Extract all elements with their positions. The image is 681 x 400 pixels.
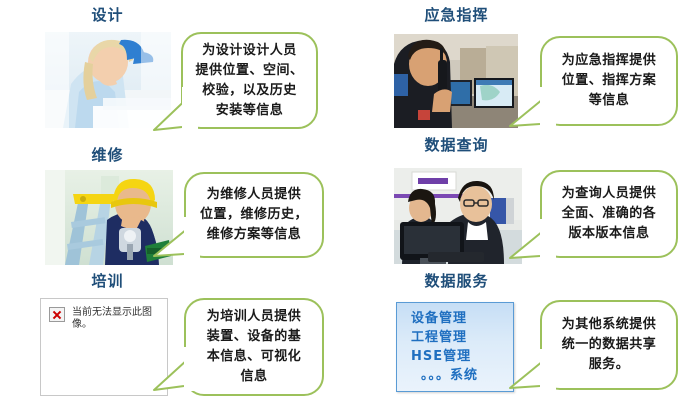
service-box: 设备管理 工程管理 HSE管理 。。。系统 — [396, 302, 514, 392]
section-title-emergency-command: 应急指挥 — [394, 6, 519, 24]
callout-design: 为设计设计人员 提供位置、空间、 校验，以及历史 安装等信息 — [181, 32, 318, 129]
service-line-3: 。。。系统 — [411, 366, 513, 385]
photo-office-workers-computer — [394, 168, 522, 264]
callout-data-service: 为其他系统提供 统一的数据共享 服务。 — [540, 300, 678, 390]
callout-training: 为培训人员提供 装置、设备的基 本信息、可视化 信息 — [184, 298, 324, 396]
photo-engineer-blueprint — [45, 32, 171, 128]
diagram-canvas: 设计 为设计设计人员 提供位置、空间、 校验，以及历史 安装等信息 — [0, 0, 681, 400]
callout-emergency-command-text: 为应急指挥提供 位置、指挥方案 等信息 — [556, 51, 663, 111]
service-line-2: HSE管理 — [411, 347, 513, 366]
callout-data-query: 为查询人员提供 全面、准确的各 版本版本信息 — [540, 170, 678, 258]
photo-technician-ladder — [45, 170, 173, 265]
section-title-design: 设计 — [45, 6, 170, 24]
callout-data-query-text: 为查询人员提供 全面、准确的各 版本版本信息 — [556, 184, 663, 244]
photo-operator-radio-monitors — [394, 34, 518, 128]
section-title-maintenance: 维修 — [45, 146, 170, 164]
callout-training-text: 为培训人员提供 装置、设备的基 本信息、可视化 信息 — [201, 307, 308, 387]
callout-design-text: 为设计设计人员 提供位置、空间、 校验，以及历史 安装等信息 — [189, 41, 309, 121]
service-line-1: 工程管理 — [411, 328, 513, 347]
callout-data-service-text: 为其他系统提供 统一的数据共享 服务。 — [556, 315, 663, 375]
section-title-data-service: 数据服务 — [394, 272, 519, 290]
section-title-training: 培训 — [45, 272, 170, 290]
section-title-data-query: 数据查询 — [394, 136, 519, 154]
broken-image-placeholder: 当前无法显示此图像。 — [40, 298, 168, 396]
callout-emergency-command: 为应急指挥提供 位置、指挥方案 等信息 — [540, 36, 678, 126]
callout-maintenance: 为维修人员提供 位置，维修历史， 维修方案等信息 — [184, 172, 324, 258]
broken-image-text: 当前无法显示此图像。 — [72, 307, 161, 331]
callout-maintenance-text: 为维修人员提供 位置，维修历史， 维修方案等信息 — [194, 185, 314, 245]
service-line-0: 设备管理 — [411, 309, 513, 328]
broken-image-icon — [49, 307, 65, 322]
